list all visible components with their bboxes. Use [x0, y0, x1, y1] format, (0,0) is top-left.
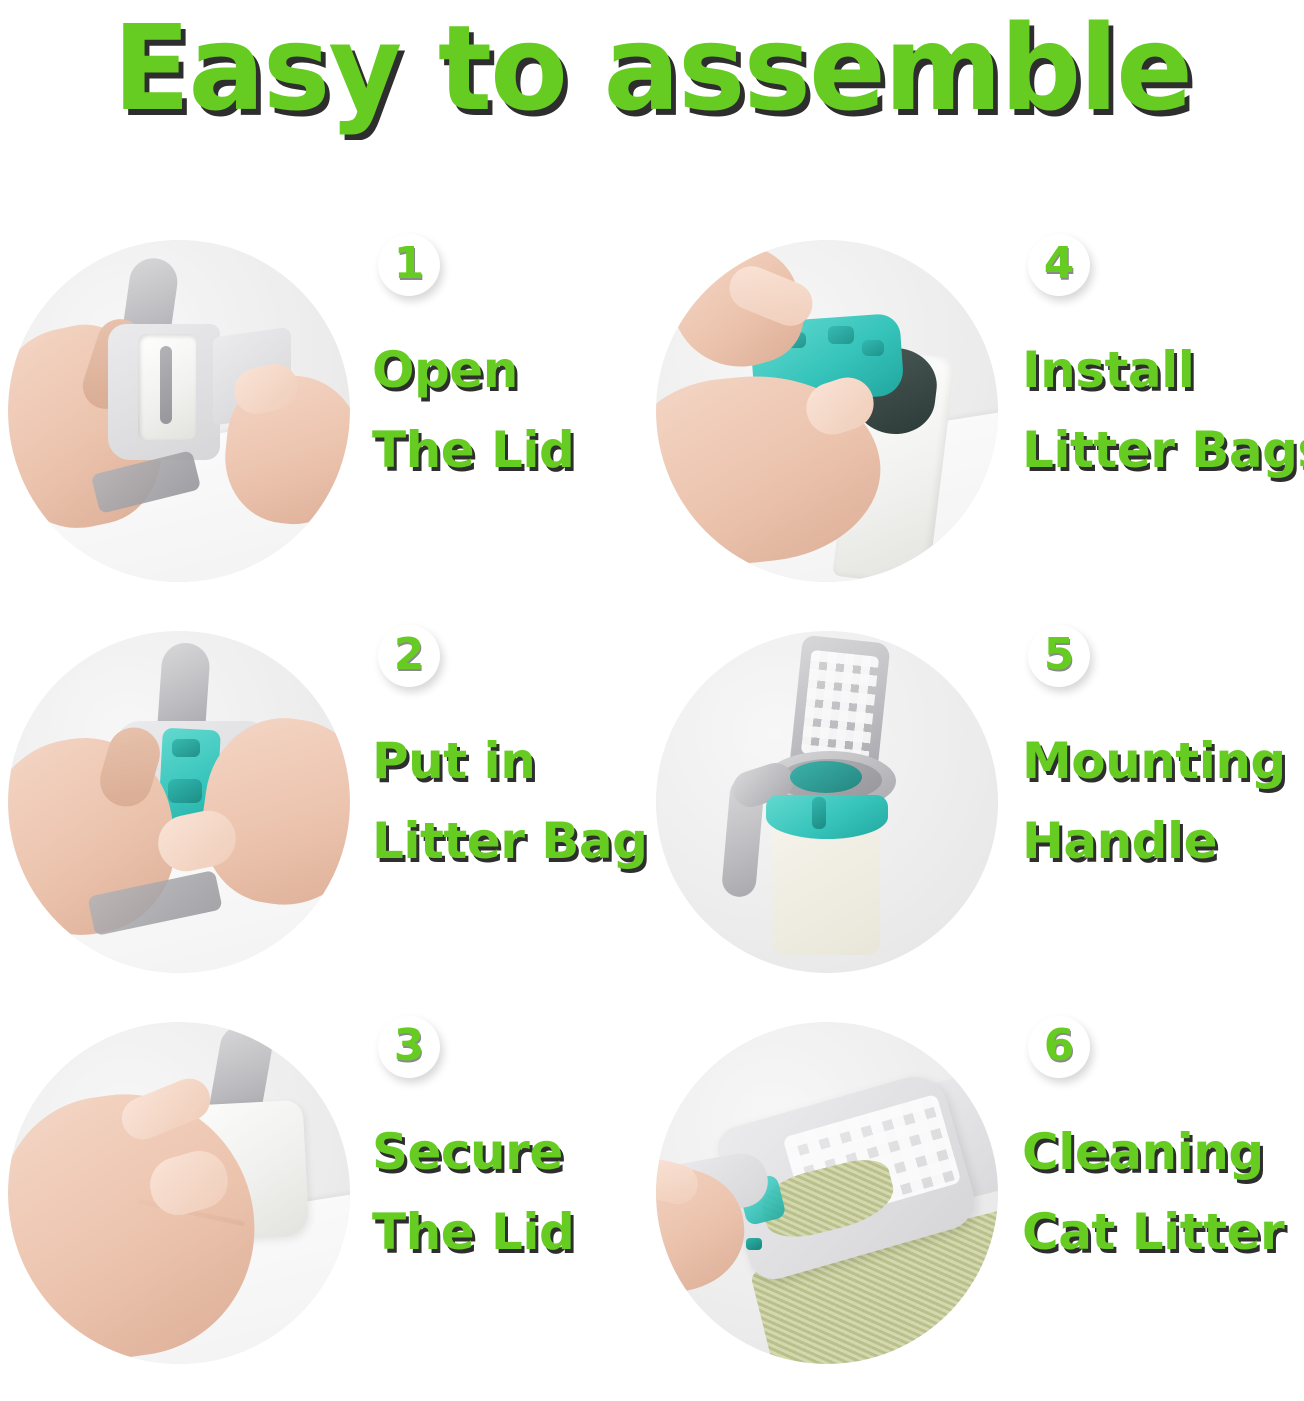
cavity-slot [160, 346, 172, 424]
step-photo-5 [656, 631, 998, 973]
infographic-page: Easy to assemble [0, 0, 1304, 1401]
step-photo-4 [656, 240, 998, 582]
photo-scene-install-litter-bags [656, 240, 998, 582]
step-number-4: 4 [1044, 242, 1075, 286]
step-badge-5: 5 [1028, 625, 1090, 687]
photo-scene-open-the-lid [8, 240, 350, 582]
step-label-2-line2: Litter Bag [372, 801, 652, 881]
photo-scene-cleaning-cat-litter [656, 1022, 998, 1364]
step-label-3-line2: The Lid [372, 1192, 652, 1272]
step-number-2: 2 [394, 633, 425, 677]
step-number-5: 5 [1044, 633, 1075, 677]
step-text-6: 6 Cleaning Cat Litter [998, 1010, 1304, 1272]
step-photo-1 [8, 240, 350, 582]
step-badge-4: 4 [1028, 234, 1090, 296]
step-badge-3: 3 [378, 1016, 440, 1078]
step-label-6-line1: Cleaning [1022, 1112, 1304, 1192]
bag-print-c [862, 340, 884, 356]
step-number-1: 1 [394, 242, 425, 286]
teal-liner [766, 795, 888, 839]
liner-knot [812, 797, 826, 829]
step-photo-3 [8, 1022, 350, 1364]
liner-inside [790, 761, 862, 793]
step-number-3: 3 [394, 1024, 425, 1068]
step-card-1: 1 Open The Lid [0, 228, 652, 619]
step-badge-1: 1 [378, 234, 440, 296]
steps-grid: 1 Open The Lid [0, 228, 1304, 1401]
step-label-2-line1: Put in [372, 721, 652, 801]
step-card-6: 6 Cleaning Cat Litter [652, 1010, 1304, 1401]
step-label-6-line2: Cat Litter [1022, 1192, 1304, 1272]
step-card-2: 2 Put in Litter Bag [0, 619, 652, 1010]
step-text-2: 2 Put in Litter Bag [350, 619, 652, 881]
step-photo-6 [656, 1022, 998, 1364]
step-number-6: 6 [1044, 1024, 1075, 1068]
step-label-5-line1: Mounting [1022, 721, 1304, 801]
bag-print-b [828, 326, 854, 344]
photo-scene-mounting-handle [656, 631, 998, 973]
bag-print-a [172, 739, 200, 757]
step-card-4: 4 Install Litter Bags [652, 228, 1304, 619]
step-text-3: 3 Secure The Lid [350, 1010, 652, 1272]
step-label-1-line2: The Lid [372, 410, 652, 490]
page-title: Easy to assemble [26, 8, 1278, 128]
scoop-slots [801, 650, 879, 761]
bag-print-b [168, 779, 202, 803]
step-text-1: 1 Open The Lid [350, 228, 652, 490]
step-badge-6: 6 [1028, 1016, 1090, 1078]
handle-clip [746, 1238, 762, 1250]
step-photo-2 [8, 631, 350, 973]
step-text-5: 5 Mounting Handle [998, 619, 1304, 881]
step-card-5: 5 Mounting Handle [652, 619, 1304, 1010]
step-badge-2: 2 [378, 625, 440, 687]
step-label-4-line2: Litter Bags [1022, 410, 1304, 490]
photo-scene-secure-the-lid [8, 1022, 350, 1364]
step-label-1-line1: Open [372, 330, 652, 410]
step-text-4: 4 Install Litter Bags [998, 228, 1304, 490]
step-label-5-line2: Handle [1022, 801, 1304, 881]
step-label-4-line1: Install [1022, 330, 1304, 410]
step-label-3-line1: Secure [372, 1112, 652, 1192]
photo-scene-put-in-litter-bag [8, 631, 350, 973]
step-card-3: 3 Secure The Lid [0, 1010, 652, 1401]
